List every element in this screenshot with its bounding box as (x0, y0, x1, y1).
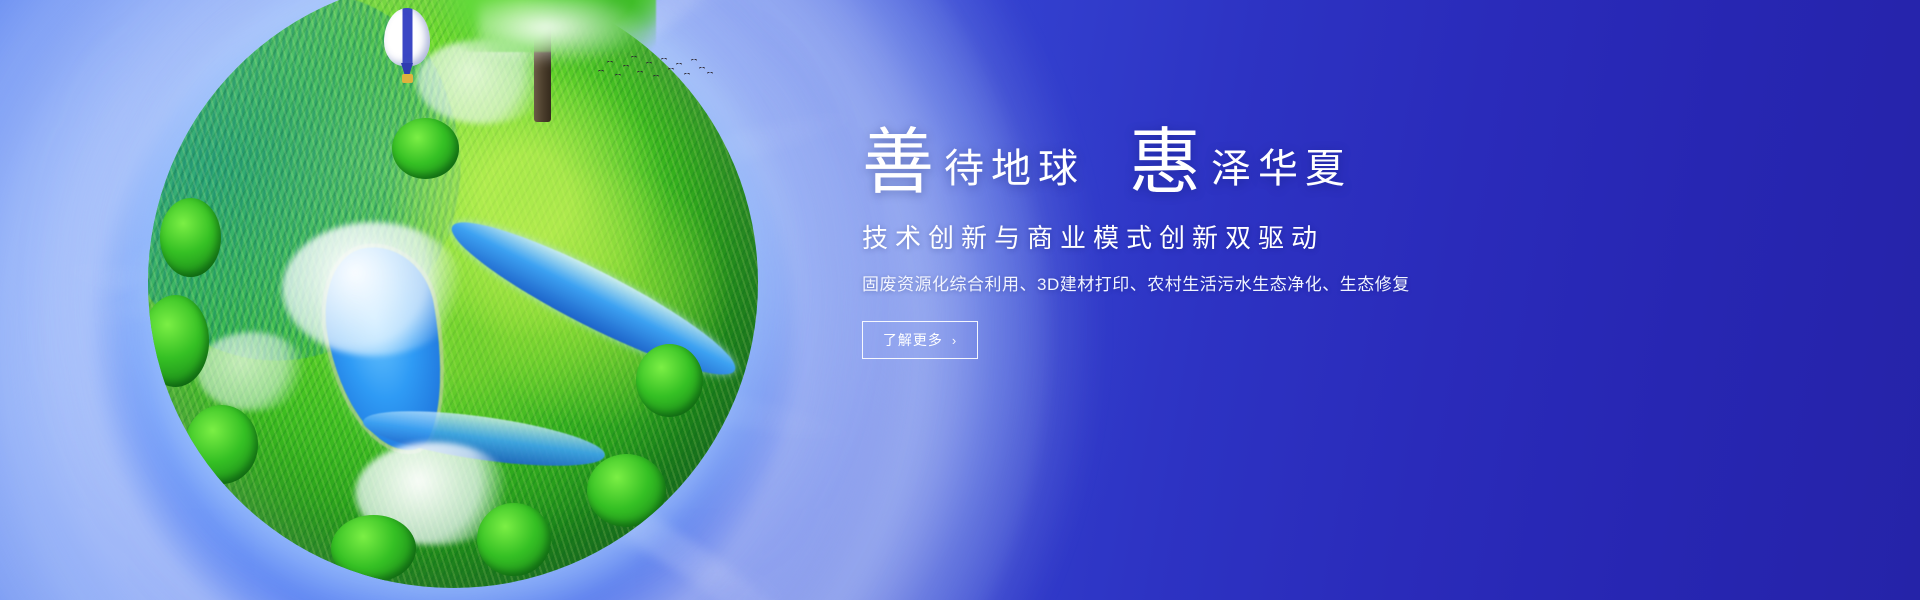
balloon-basket (402, 74, 413, 83)
tree-clump (636, 344, 703, 417)
cloud-patch (197, 332, 307, 411)
hero-description: 固废资源化综合利用、3D建材打印、农村生活污水生态净化、生态修复 (862, 274, 1622, 297)
hero-subtitle: 技术创新与商业模式创新双驱动 (862, 223, 1622, 254)
tree-clump (477, 503, 550, 576)
green-planet-image (148, 0, 758, 588)
balloon-neck (401, 63, 413, 74)
headline-text-2: 泽华夏 (1201, 149, 1352, 195)
learn-more-label: 了解更多 (883, 330, 943, 350)
tree-clump (331, 515, 416, 582)
tree-clump (587, 454, 666, 527)
headline-text-1: 待地球 (934, 149, 1085, 195)
tree-clump (185, 405, 258, 484)
page-title: 善 待地球 惠 泽华夏 (862, 126, 1622, 195)
headline-char-1: 善 (862, 128, 934, 197)
hero-banner: 善 待地球 惠 泽华夏 技术创新与商业模式创新双驱动 固废资源化综合利用、3D建… (0, 0, 1920, 600)
tree-clump (160, 198, 221, 277)
hero-content: 善 待地球 惠 泽华夏 技术创新与商业模式创新双驱动 固废资源化综合利用、3D建… (862, 126, 1622, 359)
cloud-patch (282, 222, 465, 356)
balloon-envelope (384, 8, 430, 66)
learn-more-button[interactable]: 了解更多 › (862, 321, 978, 359)
headline-char-2: 惠 (1129, 128, 1201, 197)
birds-flock-icon (596, 52, 716, 86)
hot-air-balloon-icon (384, 8, 430, 92)
chevron-right-icon: › (952, 334, 957, 347)
